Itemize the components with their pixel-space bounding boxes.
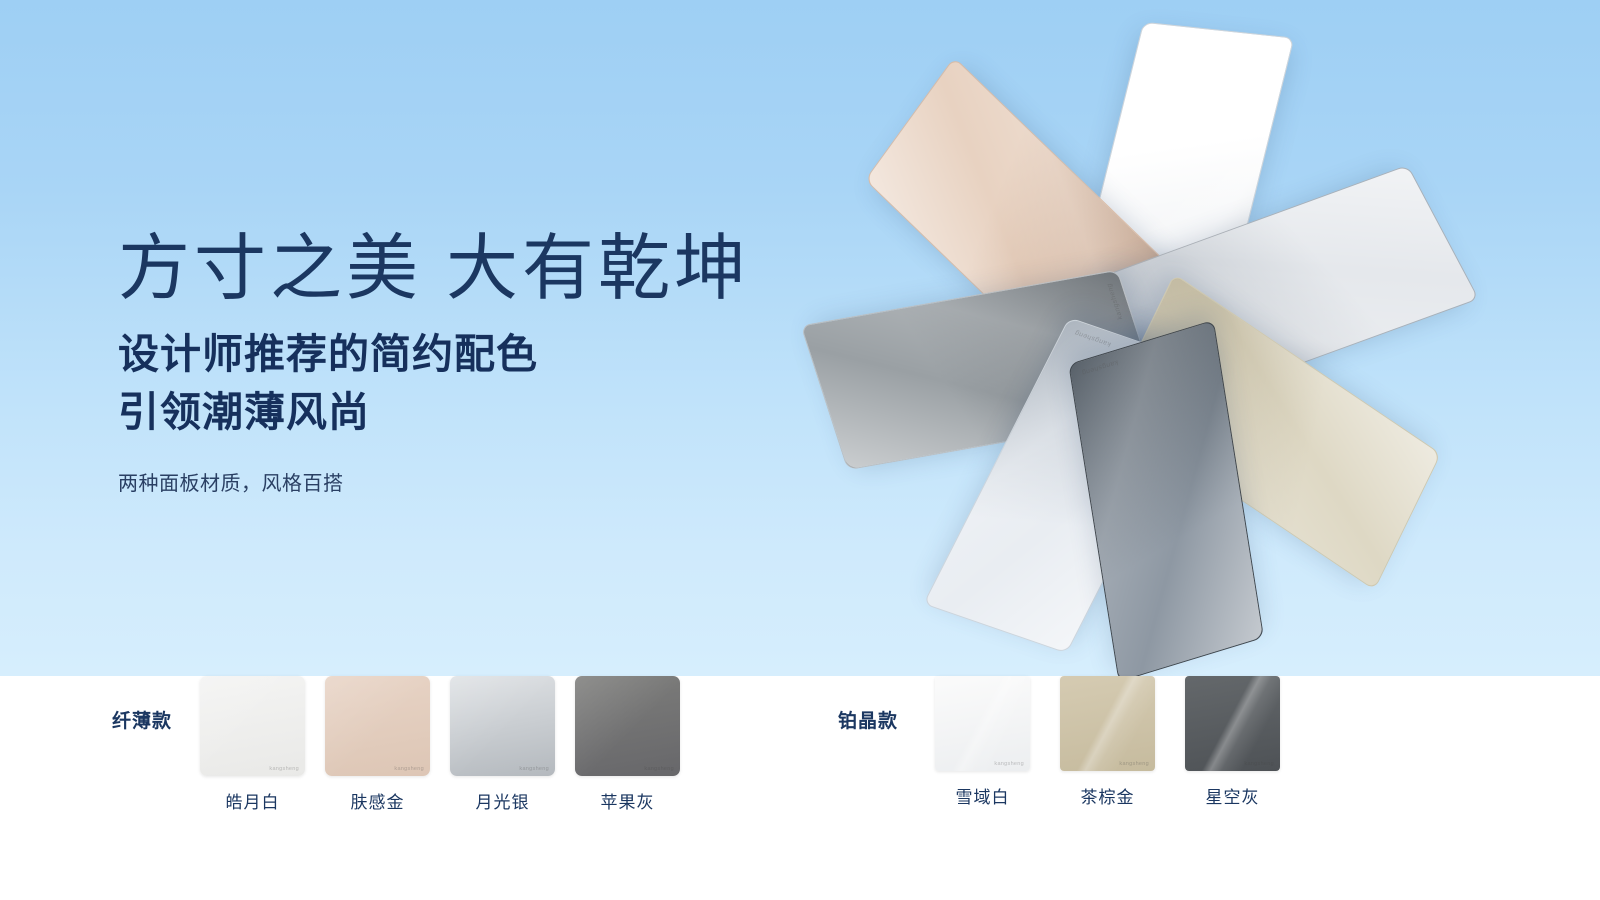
chip-gloss-overlay [450, 676, 555, 776]
swatch-cell-apple-grey[interactable]: kangsheng苹果灰 [565, 676, 690, 813]
chip-brand-logo-icon: kangsheng [519, 766, 549, 772]
chip-gloss-overlay [325, 676, 430, 776]
swatch-cell-snow-white[interactable]: kangsheng雪域白 [920, 676, 1045, 808]
hero-tagline: 两种面板材质，风格百搭 [118, 467, 878, 496]
color-swatch-section: 纤薄款 kangsheng皓月白kangsheng肤感金kangsheng月光银… [0, 676, 1600, 900]
chip-brand-logo-icon: kangsheng [1244, 761, 1274, 767]
color-chip-tea-brown-gold[interactable]: kangsheng [1060, 676, 1155, 771]
color-name-label: 茶棕金 [1081, 783, 1135, 808]
color-chip-apple-grey[interactable]: kangsheng [575, 676, 680, 776]
color-chip-starry-grey[interactable]: kangsheng [1185, 676, 1280, 771]
hero-section: 方寸之美 大有乾坤 设计师推荐的简约配色 引领潮薄风尚 两种面板材质，风格百搭 … [0, 0, 1600, 676]
color-name-label: 皓月白 [226, 788, 280, 813]
hero-subhead-line-1: 设计师推荐的简约配色 [118, 325, 878, 383]
chip-gloss-overlay [575, 676, 680, 776]
color-chip-haoyue-white[interactable]: kangsheng [200, 676, 305, 776]
hero-subhead-line-2: 引领潮薄风尚 [118, 383, 878, 441]
chip-brand-logo-icon: kangsheng [394, 766, 424, 772]
chip-brand-logo-icon: kangsheng [269, 766, 299, 772]
chip-brand-logo-icon: kangsheng [1119, 761, 1149, 767]
chip-gloss-overlay [1185, 676, 1280, 771]
chip-brand-logo-icon: kangsheng [994, 761, 1024, 767]
swatch-row: kangsheng雪域白kangsheng茶棕金kangsheng星空灰 [920, 676, 1295, 808]
color-name-label: 苹果灰 [601, 788, 655, 813]
swatch-group-platinum-crystal-series: 铂晶款 kangsheng雪域白kangsheng茶棕金kangsheng星空灰 [838, 676, 1295, 808]
swatch-group-label: 纤薄款 [112, 676, 172, 733]
color-chip-skin-gold[interactable]: kangsheng [325, 676, 430, 776]
color-chip-moonlight-silver[interactable]: kangsheng [450, 676, 555, 776]
chip-gloss-overlay [935, 676, 1030, 771]
color-name-label: 雪域白 [956, 783, 1010, 808]
hero-subhead: 设计师推荐的简约配色 引领潮薄风尚 [118, 325, 878, 441]
swatch-group-label: 铂晶款 [838, 676, 898, 733]
chip-brand-logo-icon: kangsheng [644, 766, 674, 772]
swatch-cell-tea-brown-gold[interactable]: kangsheng茶棕金 [1045, 676, 1170, 808]
hero-copy-block: 方寸之美 大有乾坤 设计师推荐的简约配色 引领潮薄风尚 两种面板材质，风格百搭 [118, 232, 878, 496]
color-name-label: 月光银 [476, 788, 530, 813]
page-title: 方寸之美 大有乾坤 [118, 232, 878, 307]
swatch-cell-skin-gold[interactable]: kangsheng肤感金 [315, 676, 440, 813]
swatch-group-thin-series: 纤薄款 kangsheng皓月白kangsheng肤感金kangsheng月光银… [112, 676, 690, 813]
color-name-label: 星空灰 [1206, 783, 1260, 808]
product-hero-image: kangshengkangshengkangshengkangshengkang… [790, 10, 1490, 670]
chip-gloss-overlay [1060, 676, 1155, 771]
swatch-cell-moonlight-silver[interactable]: kangsheng月光银 [440, 676, 565, 813]
product-color-showcase-page: 方寸之美 大有乾坤 设计师推荐的简约配色 引领潮薄风尚 两种面板材质，风格百搭 … [0, 0, 1600, 900]
swatch-cell-haoyue-white[interactable]: kangsheng皓月白 [190, 676, 315, 813]
swatch-cell-starry-grey[interactable]: kangsheng星空灰 [1170, 676, 1295, 808]
color-name-label: 肤感金 [351, 788, 405, 813]
color-chip-snow-white[interactable]: kangsheng [935, 676, 1030, 771]
chip-gloss-overlay [200, 676, 305, 776]
swatch-row: kangsheng皓月白kangsheng肤感金kangsheng月光银kang… [190, 676, 690, 813]
